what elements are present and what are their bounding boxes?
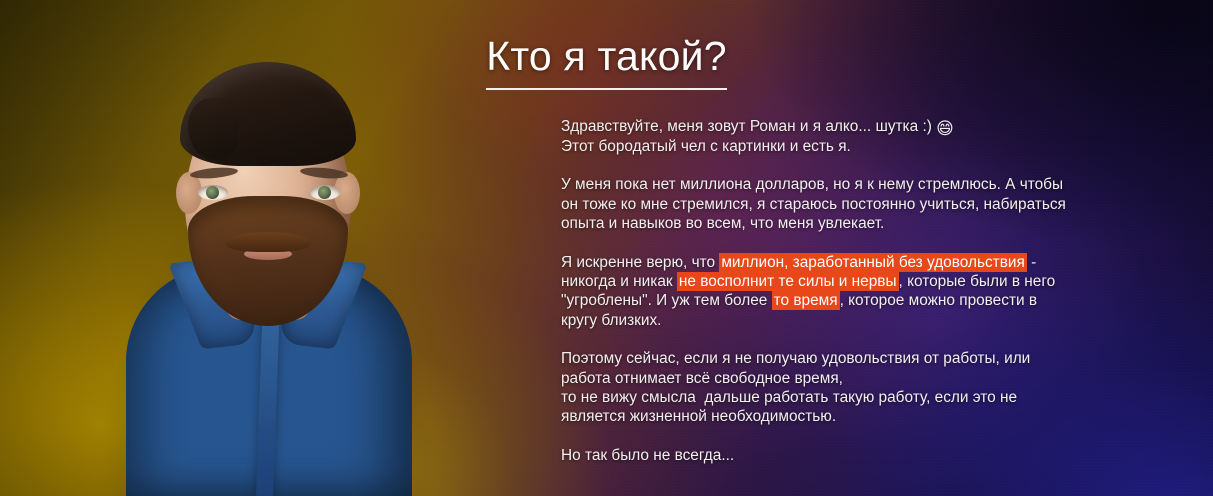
highlight-time: то время (772, 291, 840, 310)
greeting-line-1: Здравствуйте, меня зовут Роман и я алко.… (561, 118, 932, 135)
highlight-strength-nerves: не восполнит те силы и нервы (677, 272, 899, 291)
portrait-eye-left (198, 185, 228, 200)
paragraph-greeting: Здравствуйте, меня зовут Роман и я алко.… (561, 117, 1071, 156)
belief-segment-1: Я искренне верю, что (561, 254, 719, 271)
hero-section: Кто я такой? Здравствуйте, меня зовут Ро… (0, 0, 1213, 496)
page-title-text: Кто я такой? (486, 33, 726, 90)
philosophy-line-1: Поэтому сейчас, если я не получаю удовол… (561, 350, 1030, 386)
portrait-photo (118, 76, 418, 496)
paragraph-philosophy: Поэтому сейчас, если я не получаю удовол… (561, 349, 1071, 427)
about-text-block: Здравствуйте, меня зовут Роман и я алко.… (561, 117, 1071, 465)
portrait-eye-right (310, 185, 340, 200)
portrait-moustache (225, 232, 311, 252)
paragraph-ambition: У меня пока нет миллиона долларов, но я … (561, 175, 1071, 233)
paragraph-closing: Но так было не всегда... (561, 446, 1071, 465)
greeting-line-2: Этот бородатый чел с картинки и есть я. (561, 138, 851, 155)
highlight-million: миллион, заработанный без удовольствия (719, 253, 1026, 272)
philosophy-line-2: то не вижу смысла дальше работать такую … (561, 389, 1021, 425)
grinning-face-icon: 😄 (936, 119, 954, 138)
page-title: Кто я такой? (0, 33, 1213, 90)
paragraph-belief: Я искренне верю, что миллион, заработанн… (561, 253, 1071, 331)
